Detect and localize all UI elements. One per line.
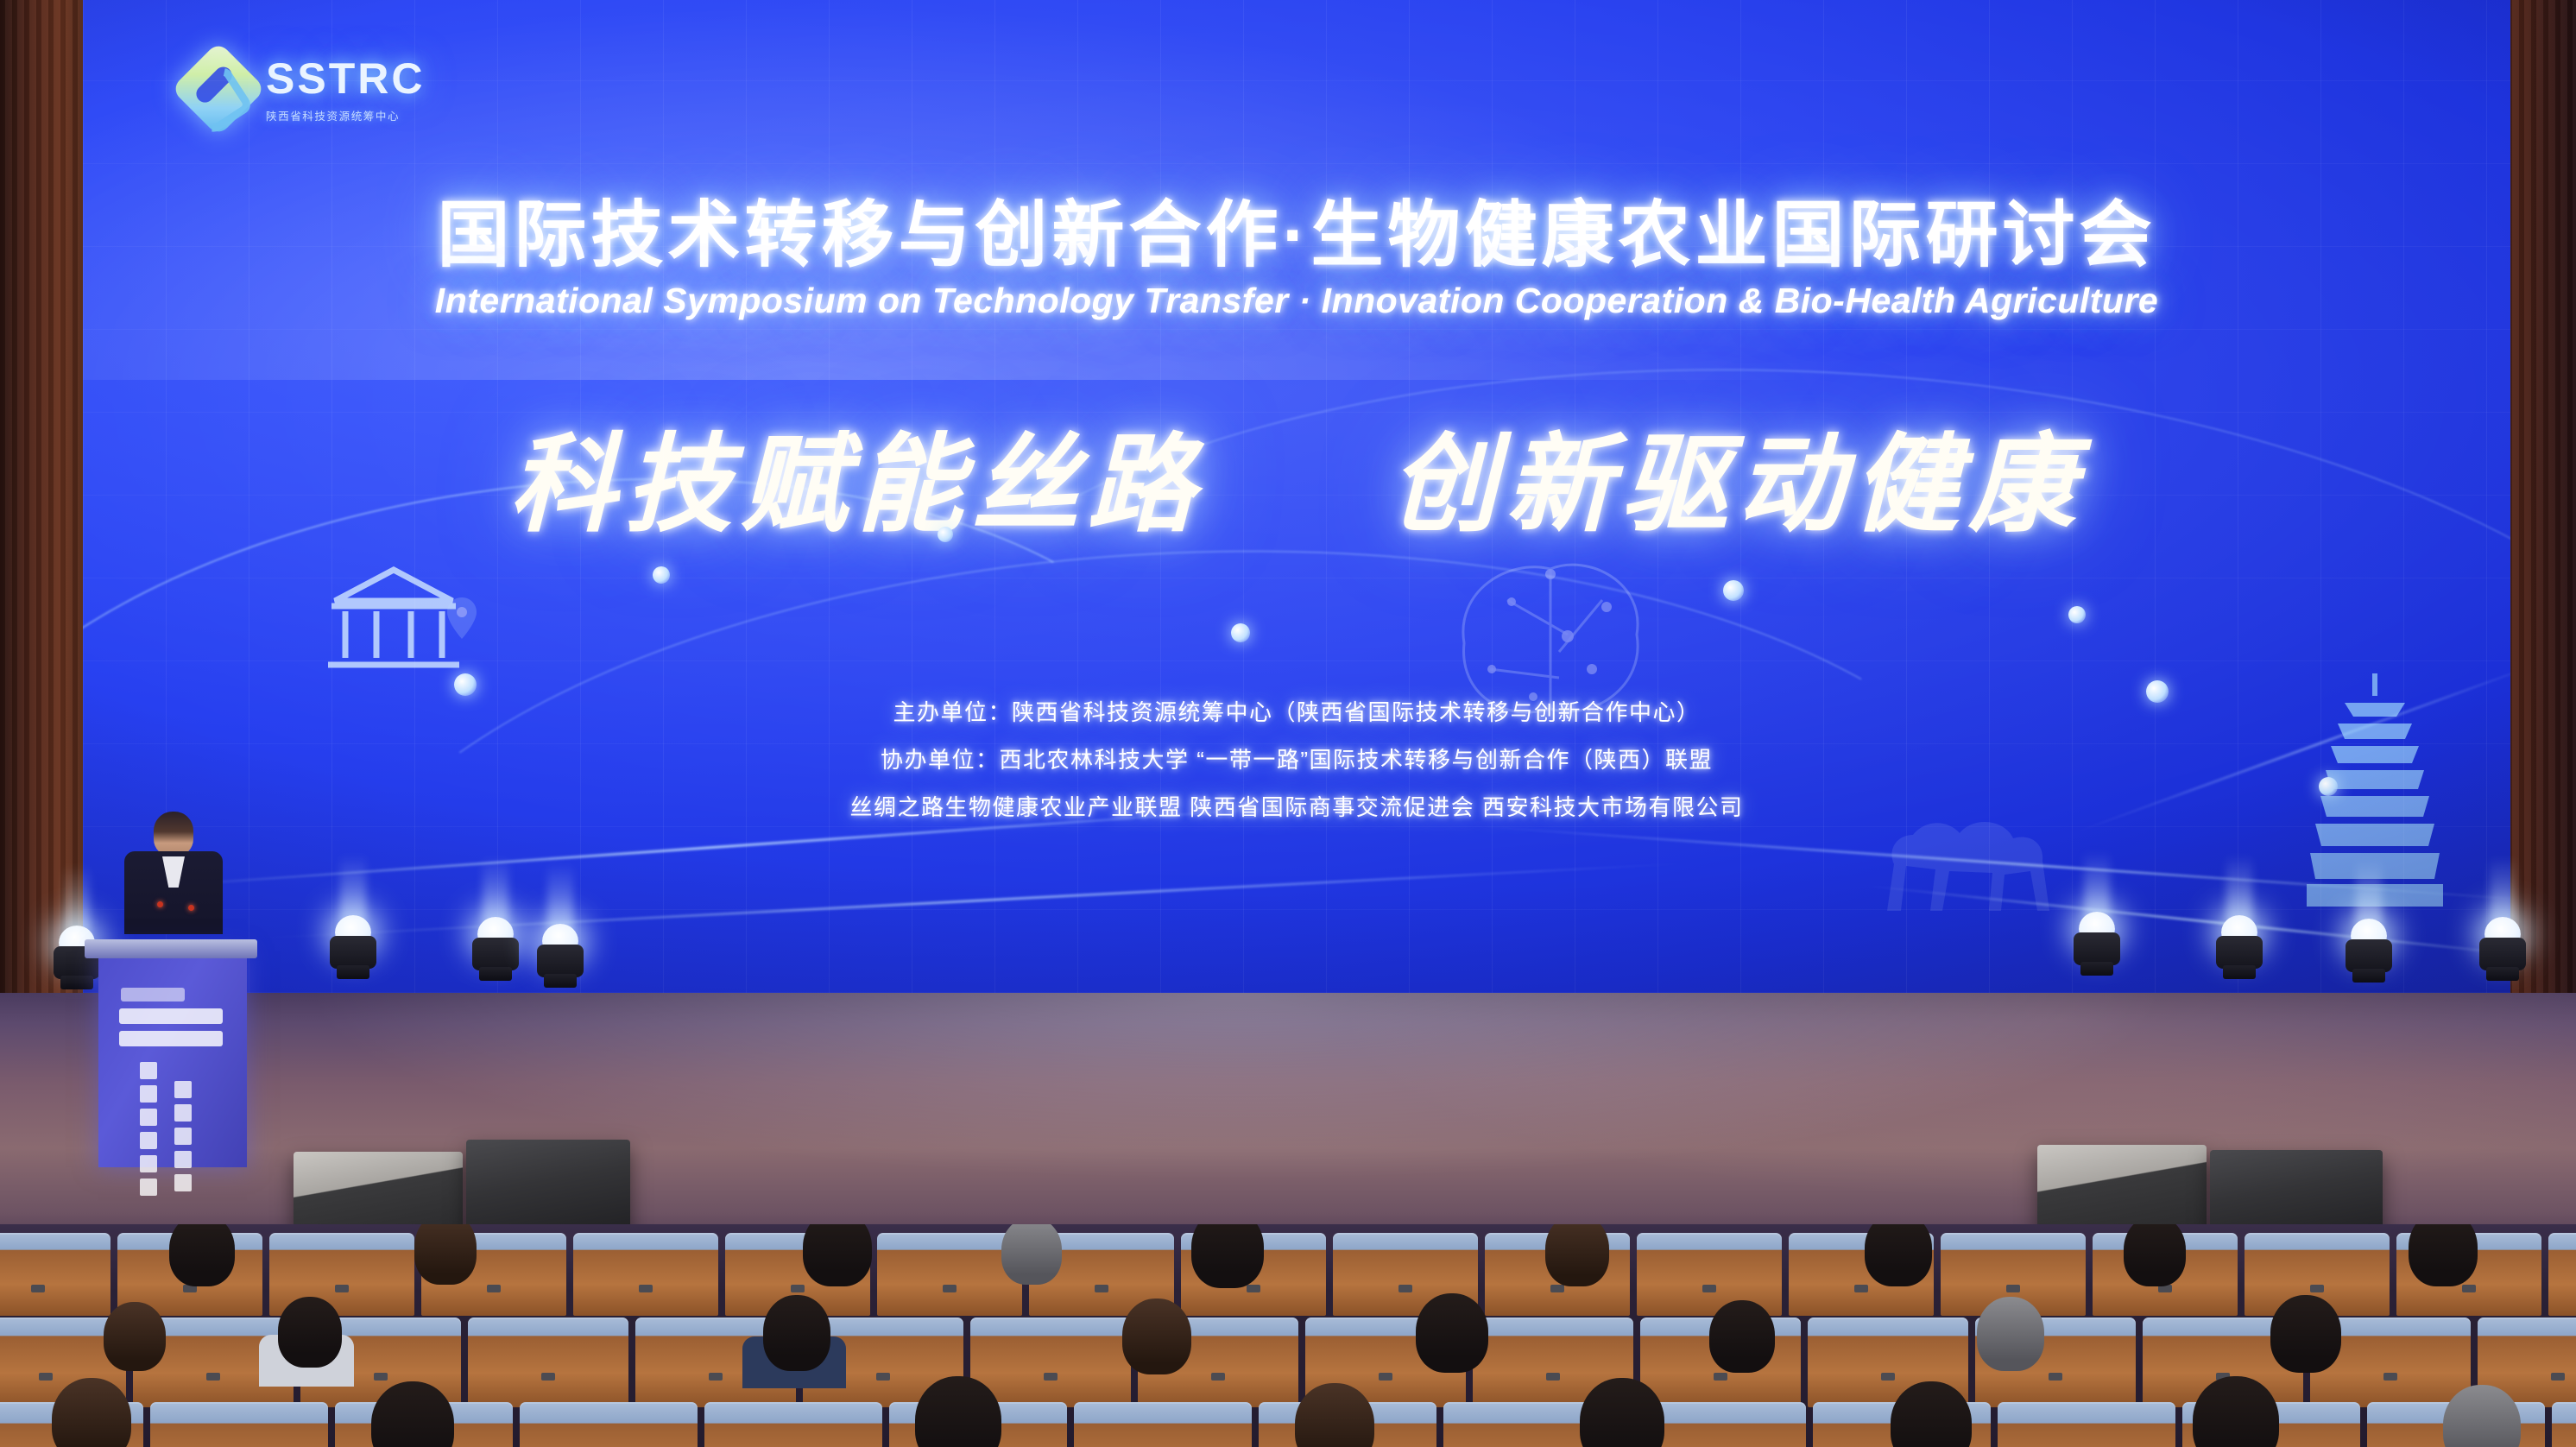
theater-seat (150, 1402, 328, 1447)
theater-seat (970, 1317, 1131, 1407)
floor-monitor (2037, 1145, 2207, 1231)
audience-head (1977, 1297, 2044, 1371)
theater-seat (468, 1317, 628, 1407)
audience-head (169, 1224, 235, 1286)
conference-stage-photo: SSTRC 陕西省科技资源统筹中心 国际技术转移与创新合作·生物健康农业国际研讨… (0, 0, 2576, 1447)
moving-head-light (535, 924, 585, 988)
theater-seat (0, 1233, 110, 1316)
glow-node (938, 527, 953, 542)
floor-monitor (466, 1140, 630, 1235)
theater-seat (877, 1233, 1022, 1316)
podium-text-bar (119, 1008, 223, 1024)
glow-node (653, 566, 670, 584)
light-yoke (472, 938, 519, 970)
theater-seat (2552, 1402, 2576, 1447)
audience-head (1122, 1299, 1191, 1374)
light-base (337, 965, 369, 979)
podium-badge (121, 988, 185, 1002)
light-beam (2226, 855, 2252, 924)
presenter-head (154, 812, 193, 856)
light-beam (2356, 858, 2382, 927)
audience-head (2409, 1224, 2478, 1286)
lapel-pin (157, 901, 163, 907)
classical-temple-icon (325, 561, 463, 682)
audience-head (1545, 1224, 1609, 1286)
light-yoke (2216, 936, 2263, 969)
moving-head-light (2344, 919, 2394, 983)
light-base (2223, 965, 2256, 979)
light-yoke (2479, 938, 2526, 970)
calligraphy-slogan: 科技赋能丝路 创新驱动健康 (83, 397, 2510, 553)
light-beam (547, 863, 573, 932)
light-beam (483, 856, 508, 926)
presenter-at-podium (121, 812, 224, 932)
audience-area (0, 1224, 2576, 1447)
audience-head (1709, 1300, 1775, 1373)
moving-head-light (328, 915, 378, 979)
sstrc-logo: SSTRC 陕西省科技资源统筹中心 (185, 54, 425, 123)
theater-seat (520, 1402, 698, 1447)
theater-seat (1998, 1402, 2175, 1447)
slogan-right: 创新驱动健康 (1390, 422, 2084, 547)
theater-seat (704, 1402, 882, 1447)
symposium-title-english: International Symposium on Technology Tr… (83, 281, 2510, 321)
credit-line-cohost: 协办单位：西北农林科技大学 “一带一路”国际技术转移与创新合作（陕西）联盟 (83, 749, 2510, 771)
light-beam (2084, 851, 2110, 920)
light-base (479, 967, 512, 981)
podium-body (98, 951, 247, 1167)
audience-head (763, 1295, 830, 1371)
light-base (2080, 962, 2113, 976)
audience-head (104, 1302, 166, 1371)
podium-text-bar (119, 1031, 223, 1046)
audience-head (414, 1224, 477, 1285)
seat-row (0, 1233, 2576, 1316)
podium-vertical-text-right (174, 1081, 192, 1191)
podium-vertical-text-left (140, 1062, 157, 1196)
audience-head (803, 1224, 872, 1286)
floor-monitor (294, 1152, 463, 1235)
floor-monitor (2210, 1150, 2383, 1236)
audience-head (1001, 1224, 1062, 1285)
map-pin-icon (445, 596, 478, 641)
credit-line-partners: 丝绸之路生物健康农业产业联盟 陕西省国际商事交流促进会 西安科技大市场有限公司 (83, 796, 2510, 818)
moving-head-light (2072, 912, 2122, 976)
logo-subtitle: 陕西省科技资源统筹中心 (266, 107, 425, 123)
moving-head-light (2214, 915, 2264, 979)
moving-head-light (2478, 917, 2528, 981)
sstrc-diamond-logo-icon (171, 41, 266, 136)
theater-seat (1637, 1233, 1782, 1316)
slogan-left: 科技赋能丝路 (509, 422, 1203, 547)
led-backdrop-screen: SSTRC 陕西省科技资源统筹中心 国际技术转移与创新合作·生物健康农业国际研讨… (83, 0, 2510, 993)
light-yoke (2346, 939, 2392, 972)
audience-head (1191, 1224, 1264, 1288)
light-base (2486, 967, 2519, 981)
light-yoke (537, 945, 584, 977)
light-yoke (2074, 932, 2120, 965)
glow-node (2068, 606, 2086, 623)
credit-line-host: 主办单位：陕西省科技资源统筹中心（陕西省国际技术转移与创新合作中心） (83, 701, 2510, 723)
glow-node (1723, 580, 1744, 601)
audience-head (2124, 1224, 2186, 1286)
light-base (2352, 969, 2385, 983)
light-streak-2 (239, 862, 1705, 941)
logo-wordmark: SSTRC (266, 54, 425, 104)
audience-head (52, 1378, 131, 1447)
light-beam (340, 855, 366, 924)
audience-head (1865, 1224, 1932, 1286)
theater-seat (1074, 1402, 1252, 1447)
organizer-credits-block: 主办单位：陕西省科技资源统筹中心（陕西省国际技术转移与创新合作中心） 协办单位：… (83, 701, 2510, 844)
glow-node (1231, 623, 1250, 642)
glow-node (2146, 680, 2169, 703)
theater-seat (2548, 1233, 2576, 1316)
symposium-title-chinese: 国际技术转移与创新合作·生物健康农业国际研讨会 (83, 177, 2510, 281)
lapel-pin (188, 905, 194, 911)
light-beam (2490, 856, 2516, 926)
light-yoke (330, 936, 376, 969)
audience-head (2270, 1295, 2341, 1373)
audience-head (278, 1297, 342, 1368)
moving-head-light (470, 917, 521, 981)
speaker-podium (85, 917, 257, 1167)
light-base (544, 974, 577, 988)
podium-top (85, 939, 257, 958)
theater-seat (573, 1233, 718, 1316)
glow-node (454, 673, 477, 696)
audience-head (1416, 1293, 1488, 1373)
